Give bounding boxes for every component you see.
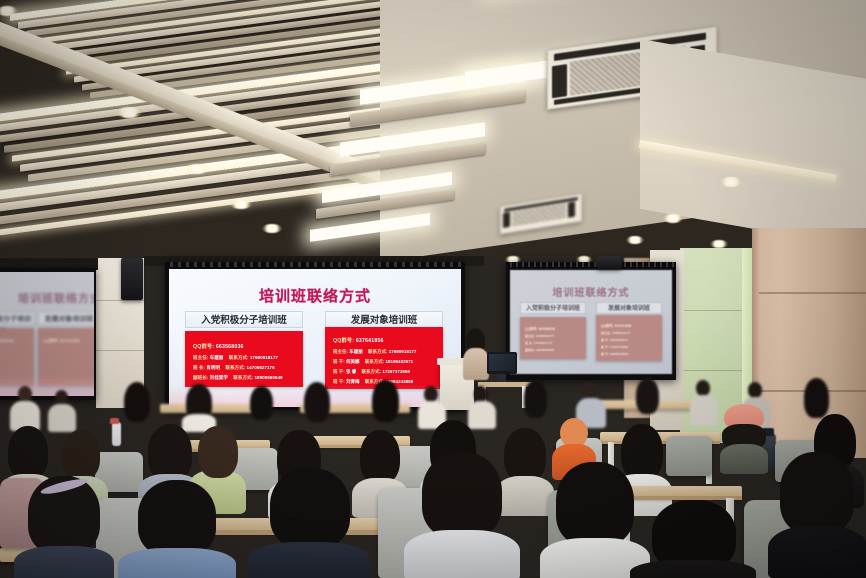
qq-number: 663568036 [539,327,556,331]
slide-left-box-heading: 入党积极分子培训班 [185,311,303,328]
downlight-icon [626,236,644,244]
downlight-icon [116,107,142,118]
contact-label: 联系方式: [233,375,253,380]
contact-label: 联系方式: [368,349,388,354]
downlight-icon [710,240,728,248]
audience-member-with-cap [720,404,768,470]
projection-screen-left-edge: 培训班联络方式 入党积极分子培训班 发展对象培训班 QQ群号: 66356803… [0,268,96,400]
phone-number: 17680918177 [250,355,278,360]
water-bottle [110,418,119,424]
phone-number: 17680918177 [389,349,417,354]
wall-speaker [121,258,143,300]
person-name: 刘桂棠学 [210,375,228,380]
contact-label: 联系方式: [362,369,382,374]
phone-number: 18984343858 [610,352,628,356]
qq-number: 663568036 [0,338,14,343]
slide-title: 培训班联络方式 [510,284,672,299]
role-label: 班 干: [601,352,609,356]
downlight-icon [230,200,252,209]
water-bottle [112,422,121,446]
lecture-hall-photo: 培训班联络方式 入党积极分子培训班 发展对象培训班 QQ群号: 66356803… [0,0,866,578]
phone-number: 17680918177 [536,334,554,338]
qq-number: 637641856 [615,324,632,328]
qq-label: QQ群号: [333,338,354,344]
audience-member-foreground [404,452,520,578]
audience-member-foreground [768,452,866,578]
phone-number: 18909560649 [254,375,282,380]
chair [666,436,712,476]
screen-hooks [506,262,676,267]
role-label: 班 干: [333,369,345,374]
audience-member-foreground [248,468,370,578]
role-label: 副班长: [525,348,535,352]
role-label: 班 干: [601,345,609,349]
phone-number: 18195402671 [610,338,628,342]
wall-left-pier-joint [96,350,144,351]
phone-number: 17267373959 [610,345,628,349]
projection-screen-right: 培训班联络方式 入党积极分子培训班 QQ群号: 663568036 班主任: 1… [506,262,676,380]
column-right-joint [752,292,866,294]
person-name: 何美娜 [346,359,360,364]
role-label: 班主任: [193,355,208,360]
phone-number: 14706627176 [534,341,552,345]
slide-left-box-heading: 入党积极分子培训班 [0,312,34,325]
phone-number: 18195402671 [386,359,414,364]
phone-number: 18909560649 [536,348,554,352]
ceiling [0,0,866,262]
role-label: 班主任: [333,349,348,354]
slide-right-box-heading: 发展对象培训班 [38,312,94,325]
audience-member-foreground [630,500,756,578]
role-label: 班 长: [193,365,205,370]
screen-hooks [165,262,465,267]
downlight-icon [720,177,742,187]
role-label: 班主任: [601,331,611,335]
role-label: 副班长: [193,375,208,380]
qq-label: QQ群号: [601,324,614,328]
slide-title: 培训班联络方式 [12,290,94,306]
phone-number: 17267373959 [382,369,410,374]
slide-right-box-heading: 发展对象培训班 [596,302,662,314]
audience-member-foreground [14,476,114,578]
contact-label: 联系方式: [225,365,245,370]
wall-panel-green-joint [680,370,748,371]
role-label: 班 干: [333,379,345,384]
downlight-icon [663,214,683,223]
slide-right-box-heading: 发展对象培训班 [325,311,443,328]
phone-number: 17680918177 [612,331,630,335]
person-name: 刘青梅 [346,379,360,384]
qq-label: QQ群号: [193,344,214,350]
contact-label: 联系方式: [365,359,385,364]
qq-label: QQ群号: [43,338,59,343]
downlight-icon [185,164,209,174]
slide-left-edge: 培训班联络方式 入党积极分子培训班 发展对象培训班 QQ群号: 66356803… [0,272,94,396]
slide-left-contact-box: QQ群号: 663568036 班主任: 车建丽 联系方式: 176809181… [185,331,303,387]
role-label: 班 干: [601,338,609,342]
presenter-body [463,348,489,380]
wall-speaker [596,256,622,269]
slide-left-box-heading: 入党积极分子培训班 [520,302,586,314]
person-name: 张 睿 [346,369,356,374]
wall-panel-green-joint [680,310,748,311]
qq-number: 637641856 [60,338,80,343]
qq-number: 663568036 [216,344,244,350]
audience-member-foreground [118,480,236,578]
slide-left-contact-box: QQ群号: 663568036 班主任: 17680918177 班 长: 14… [520,317,586,359]
monitor-stand [498,374,506,382]
role-label: 班 干: [333,359,345,364]
slide-right-contact-box: QQ群号: 637641856 班主任: 17680918177 班 干: 18… [596,315,662,361]
slide-right: 培训班联络方式 入党积极分子培训班 QQ群号: 663568036 班主任: 1… [510,270,672,374]
contact-label: 联系方式: [229,355,249,360]
person-name: 车建丽 [349,349,363,354]
downlight-icon [262,224,282,233]
qq-number: 637641856 [356,338,384,344]
role-label: 班 长: [525,341,533,345]
slide-title: 培训班联络方式 [169,285,461,306]
person-name: 肖明明 [206,365,220,370]
person-name: 车建丽 [210,355,224,360]
role-label: 班主任: [525,334,535,338]
wall-left-pier-joint [96,300,144,301]
qq-label: QQ群号: [525,327,538,331]
confidence-monitor [487,352,517,374]
phone-number: 14706627176 [247,365,275,370]
